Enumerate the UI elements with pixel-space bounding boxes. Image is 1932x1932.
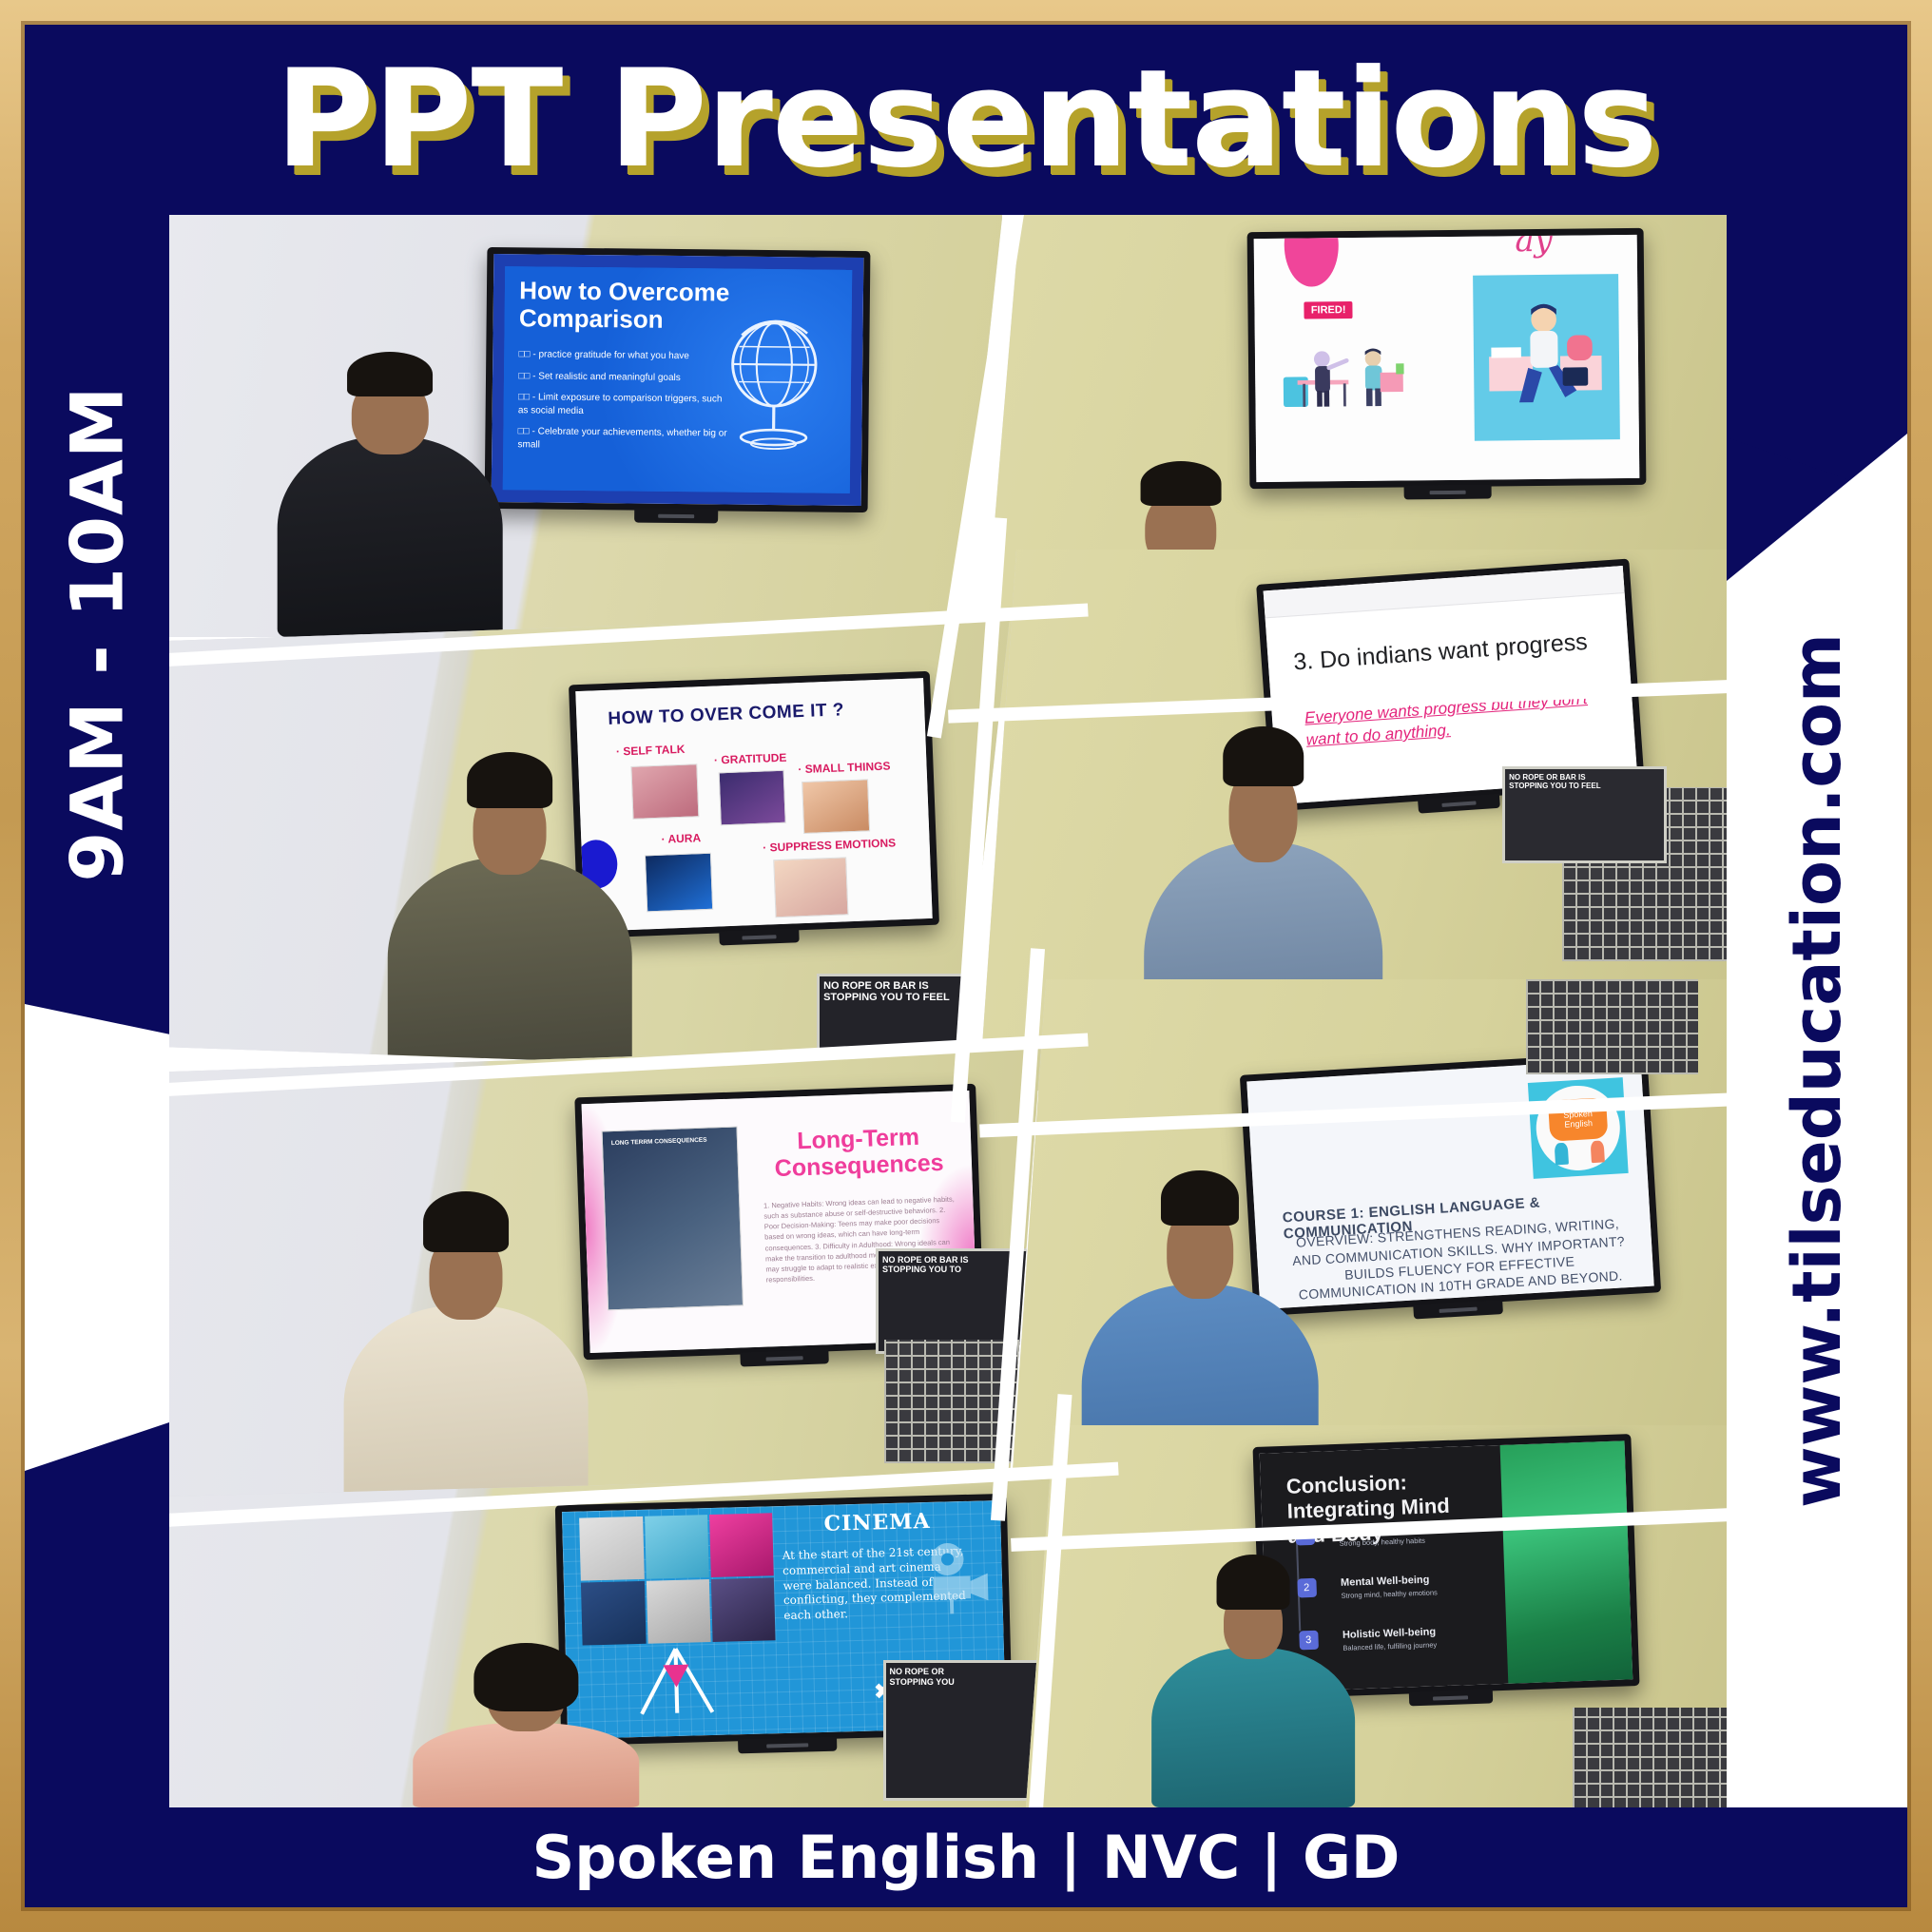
slide-5-title: Long-Term Consequences <box>761 1124 956 1183</box>
window-grill <box>1573 1708 1727 1807</box>
slide-3-label-4: · AURA <box>661 831 701 846</box>
layoff-illustration-icon <box>1277 304 1455 457</box>
slide-4-title: 3. Do indians want progress <box>1292 628 1588 676</box>
slide-3-label-2: · GRATITUDE <box>713 750 786 766</box>
photo-8[interactable]: Conclusion: Integrating Mind and Body 1 … <box>1026 1425 1727 1807</box>
slide-5-photo: LONG TERRM CONSEQUENCES <box>602 1127 744 1311</box>
slide-2: ay FIRED! <box>1253 234 1638 481</box>
slide-1-bullets: □□ - practice gratitude for what you hav… <box>517 348 733 461</box>
slide-3-label-5: · SUPPRESS EMOTIONS <box>762 836 895 854</box>
presenter-1 <box>278 333 503 637</box>
slide-1-bullet-3: □□ - Limit exposure to comparison trigge… <box>518 391 733 418</box>
right-sidebar: www.tilseducation.com <box>1727 215 1907 1907</box>
slide-7-title: CINEMA <box>823 1509 931 1536</box>
time-badge-label: 9AM - 10AM <box>55 385 140 881</box>
film-camera-icon <box>921 1519 998 1635</box>
photo-collage: How to Overcome Comparison □□ - practice… <box>169 215 1727 1807</box>
tv-screen-2: ay FIRED! <box>1246 227 1646 488</box>
slide-8-photo <box>1500 1440 1633 1684</box>
left-sidebar: 9AM - 10AM <box>25 215 169 1907</box>
page-title: PPT Presentations <box>275 52 1656 187</box>
slide-3-title: HOW TO OVER COME IT ? <box>608 700 844 730</box>
footer-label: Spoken English | NVC | GD <box>532 1823 1401 1892</box>
spoken-english-logo-icon: Spoken English <box>1528 1078 1629 1180</box>
globe-icon <box>710 300 838 466</box>
slide-3-label-3: · SMALL THINGS <box>798 759 891 776</box>
title-bar: PPT Presentations <box>25 25 1907 215</box>
presenter-3 <box>388 724 632 1074</box>
tv-screen-1: How to Overcome Comparison □□ - practice… <box>485 246 871 512</box>
wall-poster: NO ROPE OR BAR ISSTOPPING YOU TO FEEL <box>1502 766 1667 864</box>
step-3-title: Holistic Well-being <box>1343 1627 1437 1641</box>
photo-1[interactable]: How to Overcome Comparison □□ - practice… <box>169 215 1002 637</box>
slide-1-bullet-1: □□ - practice gratitude for what you hav… <box>518 348 733 363</box>
slide-1-bullet-4: □□ - Celebrate your achievements, whethe… <box>517 425 732 453</box>
walking-man-illustration-icon <box>1477 283 1616 435</box>
presenter-7 <box>414 1607 640 1807</box>
presenter-8 <box>1152 1533 1356 1807</box>
presenter-5 <box>343 1163 588 1521</box>
tripod-icon <box>626 1631 724 1729</box>
slide-5-photo-caption: LONG TERRM CONSEQUENCES <box>611 1137 707 1148</box>
footer-bar: Spoken English | NVC | GD <box>25 1807 1907 1907</box>
photo-7[interactable]: CINEMA At the start of the 21st century,… <box>169 1473 1072 1807</box>
slide-2-scribble: ay <box>1515 234 1553 259</box>
step-2-sub: Strong mind, healthy emotions <box>1342 1589 1439 1601</box>
photo-5[interactable]: LONG TERRM CONSEQUENCES Long-Term Conseq… <box>169 1043 1041 1521</box>
website-badge[interactable]: www.tilseducation.com <box>1727 453 1907 1689</box>
slide-1-title: How to Overcome Comparison <box>519 276 742 335</box>
slide-1-bullet-2: □□ - Set realistic and meaningful goals <box>518 369 733 384</box>
website-url-label[interactable]: www.tilseducation.com <box>1778 633 1856 1508</box>
window-grill <box>1526 979 1698 1074</box>
slide-1: How to Overcome Comparison □□ - practice… <box>492 253 864 505</box>
poster-inner: PPT Presentations How to Overcome Compar… <box>25 25 1907 1907</box>
step-3-sub: Balanced life, fulfilling journey <box>1343 1641 1437 1652</box>
time-badge: 9AM - 10AM <box>25 272 169 995</box>
poster-root: PPT Presentations How to Overcome Compar… <box>0 0 1932 1932</box>
photo-3[interactable]: HOW TO OVER COME IT ? · SELF TALK · GRAT… <box>169 613 1011 1075</box>
